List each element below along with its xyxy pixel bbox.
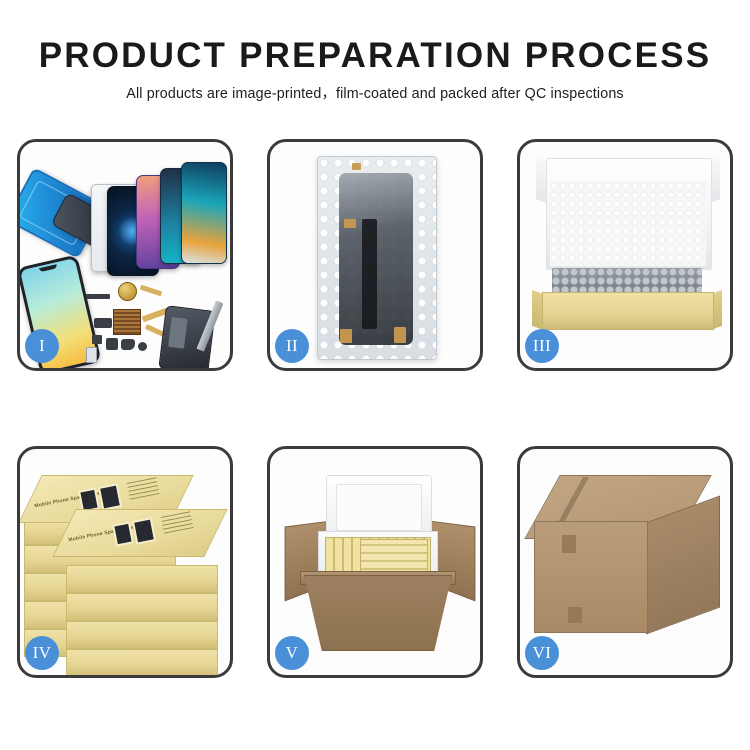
page-title: PRODUCT PREPARATION PROCESS — [0, 36, 750, 76]
step-badge-1: I — [25, 329, 59, 363]
process-step-5: V — [267, 446, 483, 678]
part-block-3 — [106, 338, 118, 350]
tape-piece-4 — [394, 327, 406, 343]
phone-display-gradient — [181, 162, 227, 264]
step-badge-5: V — [275, 636, 309, 670]
stacked-box-r2 — [66, 593, 218, 621]
carton-body — [304, 575, 452, 651]
page-subtitle: All products are image-printed，film-coat… — [0, 85, 750, 103]
box-window-front-1 — [112, 521, 134, 546]
step-badge-4: IV — [25, 636, 59, 670]
speaker-component — [118, 282, 137, 301]
header: PRODUCT PREPARATION PROCESS All products… — [0, 36, 750, 103]
step-badge-3: III — [525, 329, 559, 363]
part-block-1 — [94, 318, 112, 328]
part-white-1 — [86, 347, 97, 363]
yellow-box-tray — [542, 292, 714, 330]
product-preparation-infographic: PRODUCT PREPARATION PROCESS All products… — [0, 0, 750, 750]
notch-icon — [39, 264, 57, 272]
tape-piece-2 — [344, 219, 356, 228]
process-step-1: I — [17, 139, 233, 371]
process-step-4: Mobile Phone Spare Parts Mobile Phone Sp… — [17, 446, 233, 678]
stacked-box-r1 — [66, 565, 218, 593]
box-window-back-2 — [98, 483, 122, 510]
process-step-6: VI — [517, 446, 733, 678]
flex-cable-1 — [140, 285, 162, 297]
part-block-2 — [92, 335, 102, 344]
logic-board-chip — [113, 309, 141, 335]
process-step-grid: I II — [17, 139, 733, 678]
box-window-front-2 — [132, 517, 156, 544]
tape-piece-3 — [340, 329, 352, 343]
stacked-box-r4 — [66, 649, 218, 675]
part-strip-1 — [86, 294, 110, 299]
tape-strip-upper — [562, 535, 576, 553]
part-round-1 — [138, 342, 147, 351]
process-step-2: II — [267, 139, 483, 371]
carton-front-face — [534, 521, 648, 633]
bubble-wrap-bag — [317, 156, 437, 360]
process-step-3: III — [517, 139, 733, 371]
camera-module — [121, 339, 135, 350]
tape-piece-1 — [352, 163, 361, 170]
step-badge-6: VI — [525, 636, 559, 670]
foam-sheet — [550, 182, 706, 266]
step-badge-2: II — [275, 329, 309, 363]
wrapped-flex-cable — [362, 219, 377, 329]
stacked-box-r3 — [66, 621, 218, 649]
tape-strip-lower — [568, 607, 582, 623]
box-stack: Mobile Phone Spare Parts Mobile Phone Sp… — [24, 465, 228, 661]
styrofoam-lid — [326, 475, 432, 539]
